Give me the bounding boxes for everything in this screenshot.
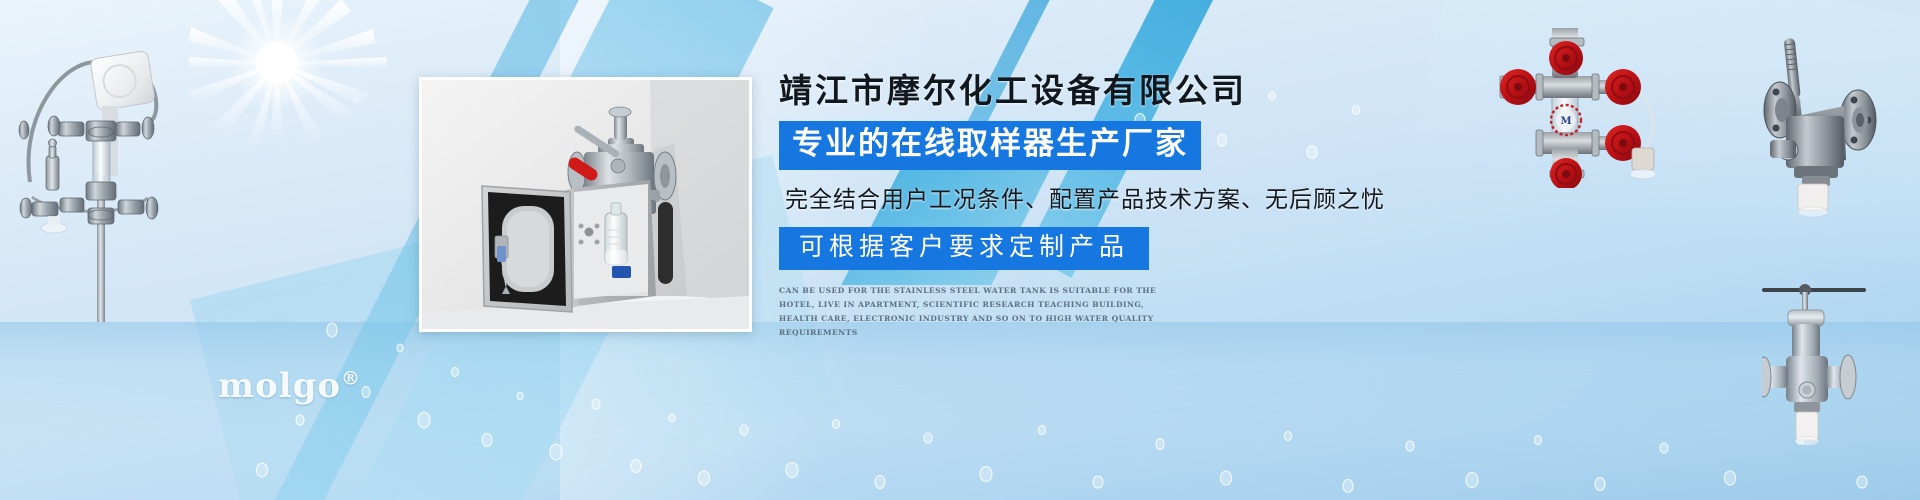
sampling-cabinet-photo: [422, 80, 749, 329]
headline-row: 专业的在线取样器生产厂家: [779, 121, 1479, 170]
product-center-photo: [419, 77, 752, 332]
english-description: Can be used for the stainless steel wate…: [779, 284, 1181, 340]
background-horizon-band: [0, 322, 1920, 500]
subline-row: 完全结合用户工况条件、配置产品技术方案、无后顾之忧: [779, 183, 1479, 217]
product-left-sampler: [2, 22, 182, 322]
product-flanged-sampling-valve: [1762, 20, 1920, 230]
svg-text:M: M: [1560, 116, 1571, 127]
company-name: 靖江市摩尔化工设备有限公司: [779, 72, 1479, 110]
promo-banner: M: [0, 0, 1920, 500]
tagline-badge: 可根据客户要求定制产品: [779, 227, 1149, 270]
tagline-row: 可根据客户要求定制产品: [779, 227, 1479, 270]
product-red-handwheel-sampler: M: [1480, 28, 1700, 188]
product-needle-sampling-valve: [1762, 268, 1920, 458]
watermark-text: molgo: [218, 366, 341, 406]
subline-text: 完全结合用户工况条件、配置产品技术方案、无后顾之忧: [779, 183, 1391, 217]
headline-badge: 专业的在线取样器生产厂家: [779, 121, 1201, 170]
registered-mark-icon: ®: [341, 368, 361, 390]
marketing-copy-block: 靖江市摩尔化工设备有限公司 专业的在线取样器生产厂家 完全结合用户工况条件、配置…: [779, 72, 1479, 340]
brand-watermark: molgo®: [218, 366, 361, 406]
